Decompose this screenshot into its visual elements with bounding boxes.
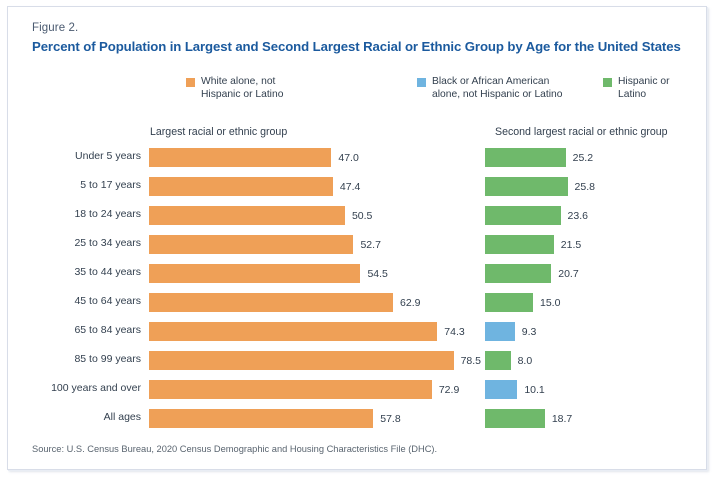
category-label: 5 to 17 years [8, 179, 141, 191]
bar-track-second-largest-group: 18.7 [485, 409, 685, 428]
legend-item-white-alone: White alone, not Hispanic or Latino [186, 76, 326, 101]
category-label: 100 years and over [8, 382, 141, 394]
bar-track-largest-group: 50.5 [149, 206, 469, 225]
chart-row: 45 to 64 years62.915.0 [8, 288, 708, 317]
bar-value-second-largest-group: 25.8 [575, 181, 595, 193]
category-label: 18 to 24 years [8, 208, 141, 220]
bar-largest-group[interactable] [149, 380, 432, 399]
legend-label-hispanic-latino: Hispanic or Latino [618, 76, 670, 101]
bar-largest-group[interactable] [149, 264, 360, 283]
bar-track-second-largest-group: 25.8 [485, 177, 685, 196]
category-label: 45 to 64 years [8, 295, 141, 307]
bar-value-second-largest-group: 25.2 [573, 152, 593, 164]
bar-value-second-largest-group: 9.3 [522, 326, 537, 338]
chart-row: All ages57.818.7 [8, 404, 708, 433]
bar-value-second-largest-group: 8.0 [518, 355, 533, 367]
bar-track-largest-group: 47.4 [149, 177, 469, 196]
bar-value-largest-group: 78.5 [461, 355, 481, 367]
bar-value-second-largest-group: 15.0 [540, 297, 560, 309]
bar-second-largest-group[interactable] [485, 264, 551, 283]
bar-track-second-largest-group: 8.0 [485, 351, 685, 370]
bar-track-largest-group: 72.9 [149, 380, 469, 399]
bar-value-second-largest-group: 21.5 [561, 239, 581, 251]
bar-second-largest-group[interactable] [485, 293, 533, 312]
bar-second-largest-group[interactable] [485, 380, 517, 399]
chart-row: 25 to 34 years52.721.5 [8, 230, 708, 259]
bar-largest-group[interactable] [149, 351, 454, 370]
bar-track-largest-group: 78.5 [149, 351, 469, 370]
bar-track-largest-group: 54.5 [149, 264, 469, 283]
bar-largest-group[interactable] [149, 177, 333, 196]
legend-item-black-alone: Black or African American alone, not His… [417, 76, 607, 101]
source-note: Source: U.S. Census Bureau, 2020 Census … [32, 444, 437, 454]
bar-value-largest-group: 50.5 [352, 210, 372, 222]
bar-value-largest-group: 57.8 [380, 413, 400, 425]
chart-row: 5 to 17 years47.425.8 [8, 172, 708, 201]
bar-largest-group[interactable] [149, 206, 345, 225]
figure-title: Percent of Population in Largest and Sec… [32, 39, 682, 56]
column-header-largest-group: Largest racial or ethnic group [150, 126, 287, 138]
bar-value-largest-group: 47.4 [340, 181, 360, 193]
bar-largest-group[interactable] [149, 293, 393, 312]
bar-largest-group[interactable] [149, 235, 353, 254]
bar-second-largest-group[interactable] [485, 235, 554, 254]
bar-track-second-largest-group: 9.3 [485, 322, 685, 341]
bar-value-second-largest-group: 20.7 [558, 268, 578, 280]
bar-track-largest-group: 47.0 [149, 148, 469, 167]
legend-label-black-alone: Black or African American alone, not His… [432, 76, 563, 101]
legend-item-hispanic-latino: Hispanic or Latino [603, 76, 693, 101]
bar-second-largest-group[interactable] [485, 148, 566, 167]
figure-number: Figure 2. [32, 22, 78, 34]
black-alone-swatch [417, 78, 426, 87]
bar-track-second-largest-group: 20.7 [485, 264, 685, 283]
bar-largest-group[interactable] [149, 322, 437, 341]
bar-track-largest-group: 74.3 [149, 322, 469, 341]
bar-value-largest-group: 54.5 [367, 268, 387, 280]
bar-track-second-largest-group: 23.6 [485, 206, 685, 225]
bar-value-second-largest-group: 10.1 [524, 384, 544, 396]
bar-value-second-largest-group: 18.7 [552, 413, 572, 425]
bar-second-largest-group[interactable] [485, 409, 545, 428]
category-label: 35 to 44 years [8, 266, 141, 278]
bar-value-largest-group: 74.3 [444, 326, 464, 338]
legend-label-white-alone: White alone, not Hispanic or Latino [201, 76, 283, 101]
hispanic-latino-swatch [603, 78, 612, 87]
bar-value-largest-group: 52.7 [360, 239, 380, 251]
figure-panel: Figure 2. Percent of Population in Large… [7, 6, 707, 470]
chart-row: 100 years and over72.910.1 [8, 375, 708, 404]
column-header-second-largest-group: Second largest racial or ethnic group [495, 126, 668, 138]
white-alone-swatch [186, 78, 195, 87]
category-label: 65 to 84 years [8, 324, 141, 336]
chart-plot-area: Under 5 years47.025.25 to 17 years47.425… [8, 143, 708, 433]
bar-second-largest-group[interactable] [485, 351, 511, 370]
category-label: 85 to 99 years [8, 353, 141, 365]
chart-row: 18 to 24 years50.523.6 [8, 201, 708, 230]
chart-row: 65 to 84 years74.39.3 [8, 317, 708, 346]
bar-second-largest-group[interactable] [485, 206, 561, 225]
bar-value-largest-group: 47.0 [338, 152, 358, 164]
bar-value-largest-group: 72.9 [439, 384, 459, 396]
bar-track-second-largest-group: 21.5 [485, 235, 685, 254]
bar-largest-group[interactable] [149, 409, 373, 428]
bar-track-second-largest-group: 25.2 [485, 148, 685, 167]
category-label: 25 to 34 years [8, 237, 141, 249]
bar-second-largest-group[interactable] [485, 322, 515, 341]
bar-second-largest-group[interactable] [485, 177, 568, 196]
bar-track-largest-group: 52.7 [149, 235, 469, 254]
chart-row: Under 5 years47.025.2 [8, 143, 708, 172]
bar-track-largest-group: 62.9 [149, 293, 469, 312]
bar-largest-group[interactable] [149, 148, 331, 167]
chart-legend: White alone, not Hispanic or Latino Blac… [186, 76, 686, 110]
category-label: Under 5 years [8, 150, 141, 162]
chart-row: 85 to 99 years78.58.0 [8, 346, 708, 375]
bar-track-second-largest-group: 10.1 [485, 380, 685, 399]
category-label: All ages [8, 411, 141, 423]
bar-value-second-largest-group: 23.6 [568, 210, 588, 222]
bar-track-largest-group: 57.8 [149, 409, 469, 428]
chart-row: 35 to 44 years54.520.7 [8, 259, 708, 288]
bar-track-second-largest-group: 15.0 [485, 293, 685, 312]
bar-value-largest-group: 62.9 [400, 297, 420, 309]
